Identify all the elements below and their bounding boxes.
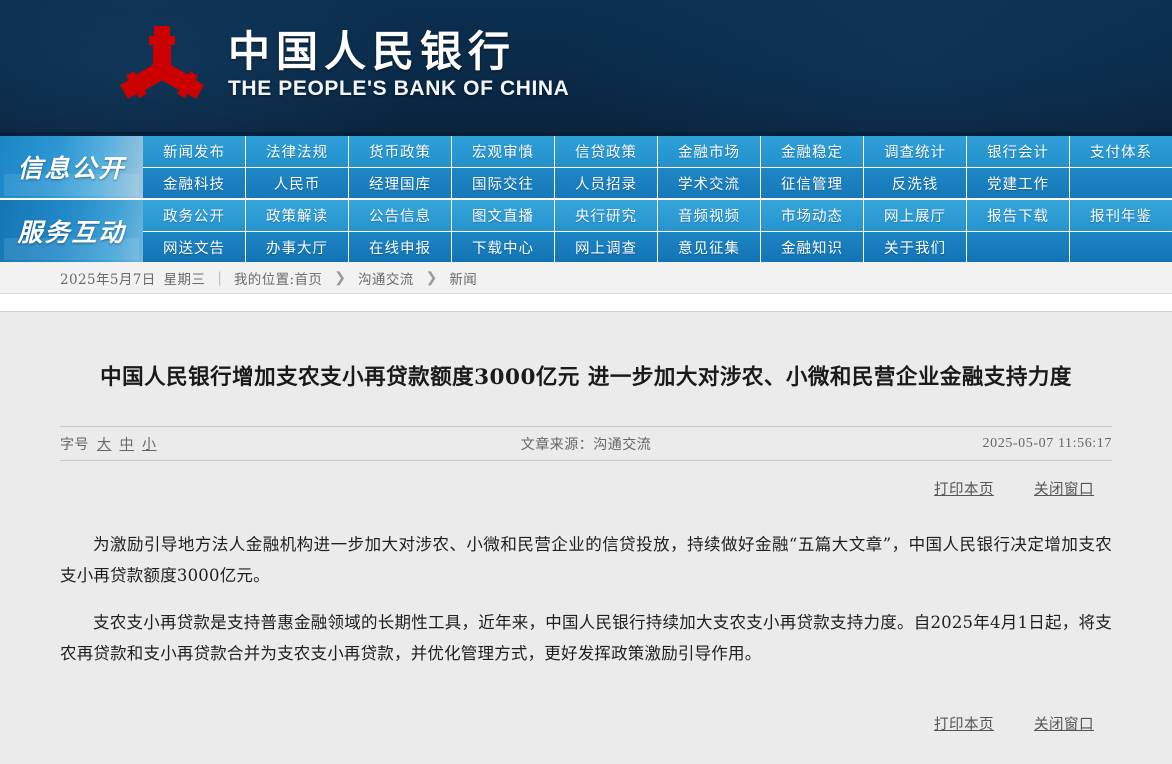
nav-item-bank-accounting[interactable]: 银行会计 — [967, 136, 1070, 167]
chevron-right-icon: ❯ — [334, 269, 346, 286]
nav-tag-label: 服务互动 — [17, 213, 125, 249]
nav-item-announcements[interactable]: 公告信息 — [349, 200, 452, 231]
breadcrumb-divider: | — [217, 270, 222, 286]
nav-group-service-interaction: 服务互动 政务公开 政策解读 公告信息 图文直播 央行研究 音频视频 市场动态 … — [0, 200, 1172, 262]
nav-row: 金融科技 人民币 经理国库 国际交往 人员招录 学术交流 征信管理 反洗钱 党建… — [143, 167, 1172, 198]
breadcrumb-item-communication[interactable]: 沟通交流 — [358, 268, 414, 288]
nav-item-payment-system[interactable]: 支付体系 — [1070, 136, 1172, 167]
nav-row: 政务公开 政策解读 公告信息 图文直播 央行研究 音频视频 市场动态 网上展厅 … — [143, 200, 1172, 231]
content-top-gap — [0, 294, 1172, 312]
print-page-link[interactable]: 打印本页 — [934, 478, 994, 499]
article-body: 为激励引导地方法人金融机构进一步加大对涉农、小微和民营企业的信贷投放，持续做好金… — [60, 529, 1112, 669]
brand-block[interactable]: 中国人民银行 THE PEOPLE'S BANK OF CHINA — [120, 22, 569, 108]
nav-item-fintech[interactable]: 金融科技 — [143, 167, 246, 198]
nav-item-opinion-collection[interactable]: 意见征集 — [658, 231, 761, 262]
nav-item-treasury[interactable]: 经理国库 — [349, 167, 452, 198]
breadcrumb-item-home[interactable]: 首页 — [294, 268, 322, 288]
nav-item-report-download[interactable]: 报告下载 — [967, 200, 1070, 231]
nav-tag-service-interaction[interactable]: 服务互动 — [0, 200, 143, 262]
site-title-cn: 中国人民银行 — [228, 30, 569, 74]
nav-item-live-broadcast[interactable]: 图文直播 — [452, 200, 555, 231]
article-paragraph: 为激励引导地方法人金融机构进一步加大对涉农、小微和民营企业的信贷投放，持续做好金… — [60, 529, 1112, 591]
nav-item-online-exhibition[interactable]: 网上展厅 — [864, 200, 967, 231]
breadcrumb-date: 2025年5月7日 — [60, 268, 156, 288]
print-page-link[interactable]: 打印本页 — [934, 713, 994, 734]
nav-item-survey-statistics[interactable]: 调查统计 — [864, 136, 967, 167]
close-window-link[interactable]: 关闭窗口 — [1034, 478, 1094, 499]
article-tools-top: 打印本页 关闭窗口 — [60, 478, 1112, 499]
nav-item-news[interactable]: 新闻发布 — [143, 136, 246, 167]
nav-item-empty — [967, 231, 1070, 262]
article-tools-bottom: 打印本页 关闭窗口 — [60, 713, 1112, 734]
nav-item-financial-knowledge[interactable]: 金融知识 — [761, 231, 864, 262]
article-container: 中国人民银行增加支农支小再贷款额度3000亿元 进一步加大对涉农、小微和民营企业… — [0, 312, 1172, 764]
nav-item-monetary-policy[interactable]: 货币政策 — [349, 136, 452, 167]
pbc-logo-icon — [120, 22, 204, 108]
site-title-en: THE PEOPLE'S BANK OF CHINA — [228, 77, 569, 100]
nav-item-market-news[interactable]: 市场动态 — [761, 200, 864, 231]
site-masthead: 中国人民银行 THE PEOPLE'S BANK OF CHINA — [0, 0, 1172, 136]
article-meta-bar: 字号 大 中 小 文章来源：沟通交流 2025-05-07 11:56:17 — [60, 426, 1112, 461]
breadcrumb-location-label: 我的位置: — [234, 268, 295, 288]
nav-item-online-declaration[interactable]: 在线申报 — [349, 231, 452, 262]
nav-item-macro-prudential[interactable]: 宏观审慎 — [452, 136, 555, 167]
nav-item-policy-interpretation[interactable]: 政策解读 — [246, 200, 349, 231]
nav-item-credit-policy[interactable]: 信贷政策 — [555, 136, 658, 167]
nav-item-party-building[interactable]: 党建工作 — [967, 167, 1070, 198]
nav-tag-information-disclosure[interactable]: 信息公开 — [0, 136, 143, 198]
nav-item-recruitment[interactable]: 人员招录 — [555, 167, 658, 198]
nav-item-service-hall[interactable]: 办事大厅 — [246, 231, 349, 262]
nav-item-document-delivery[interactable]: 网送文告 — [143, 231, 246, 262]
main-navigation: 信息公开 新闻发布 法律法规 货币政策 宏观审慎 信贷政策 金融市场 金融稳定 … — [0, 136, 1172, 262]
nav-row: 新闻发布 法律法规 货币政策 宏观审慎 信贷政策 金融市场 金融稳定 调查统计 … — [143, 136, 1172, 167]
nav-item-government-affairs[interactable]: 政务公开 — [143, 200, 246, 231]
breadcrumb: 2025年5月7日 星期三 | 我的位置: 首页 ❯ 沟通交流 ❯ 新闻 — [0, 262, 1172, 294]
breadcrumb-item-news[interactable]: 新闻 — [449, 268, 477, 288]
nav-item-audio-video[interactable]: 音频视频 — [658, 200, 761, 231]
nav-item-financial-stability[interactable]: 金融稳定 — [761, 136, 864, 167]
article-paragraph: 支农支小再贷款是支持普惠金融领域的长期性工具，近年来，中国人民银行持续加大支农支… — [60, 607, 1112, 669]
nav-tag-label: 信息公开 — [17, 149, 125, 185]
nav-item-empty — [1070, 231, 1172, 262]
nav-item-anti-money-laundering[interactable]: 反洗钱 — [864, 167, 967, 198]
nav-item-rmb[interactable]: 人民币 — [246, 167, 349, 198]
nav-item-research[interactable]: 央行研究 — [555, 200, 658, 231]
nav-item-online-survey[interactable]: 网上调查 — [555, 231, 658, 262]
nav-item-laws[interactable]: 法律法规 — [246, 136, 349, 167]
nav-item-about-us[interactable]: 关于我们 — [864, 231, 967, 262]
nav-item-international[interactable]: 国际交往 — [452, 167, 555, 198]
chevron-right-icon: ❯ — [426, 269, 438, 286]
nav-item-academic-exchange[interactable]: 学术交流 — [658, 167, 761, 198]
page-title: 中国人民银行增加支农支小再贷款额度3000亿元 进一步加大对涉农、小微和民营企业… — [60, 312, 1112, 394]
nav-item-download-center[interactable]: 下载中心 — [452, 231, 555, 262]
nav-group-information-disclosure: 信息公开 新闻发布 法律法规 货币政策 宏观审慎 信贷政策 金融市场 金融稳定 … — [0, 136, 1172, 200]
breadcrumb-weekday: 星期三 — [164, 268, 206, 288]
nav-row: 网送文告 办事大厅 在线申报 下载中心 网上调查 意见征集 金融知识 关于我们 — [143, 231, 1172, 262]
nav-item-credit-reference[interactable]: 征信管理 — [761, 167, 864, 198]
article-timestamp: 2025-05-07 11:56:17 — [983, 436, 1112, 452]
article-source: 文章来源：沟通交流 — [60, 434, 1112, 454]
nav-item-empty — [1070, 167, 1172, 198]
nav-item-financial-market[interactable]: 金融市场 — [658, 136, 761, 167]
close-window-link[interactable]: 关闭窗口 — [1034, 713, 1094, 734]
nav-item-yearbook[interactable]: 报刊年鉴 — [1070, 200, 1172, 231]
